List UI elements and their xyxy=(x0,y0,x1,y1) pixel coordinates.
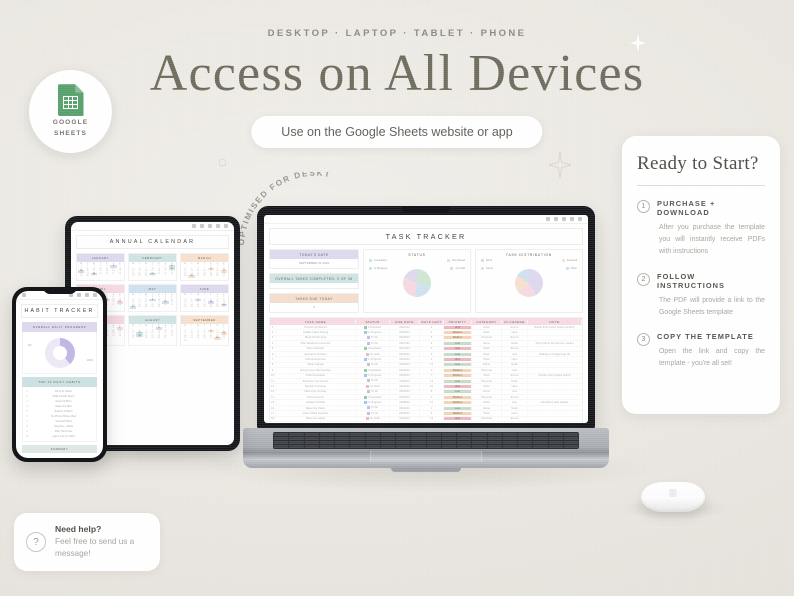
status-chip xyxy=(367,342,370,345)
legend-swatch xyxy=(369,259,372,262)
tablet-toolbar[interactable] xyxy=(71,222,234,231)
keyboard-key[interactable] xyxy=(564,441,578,444)
cell-status: To Do xyxy=(356,390,390,393)
keyboard-key[interactable] xyxy=(442,437,456,440)
cell-due-date: 10/02/24 xyxy=(390,363,420,366)
habit-name: Journal 5 Mins xyxy=(31,420,96,423)
keyboard-key[interactable] xyxy=(366,433,380,436)
keyboard-key[interactable] xyxy=(335,433,349,436)
cell-days-left: 8 xyxy=(420,390,444,393)
habit-number: 8 xyxy=(23,425,31,428)
cell-due-date: 09/30/24 xyxy=(390,353,420,356)
keyboard-key[interactable] xyxy=(503,445,517,448)
keyboard-key[interactable] xyxy=(366,437,380,440)
keyboard-key[interactable] xyxy=(350,441,364,444)
laptop-device: TASK TRACKER TODAY'S DATE SEPTEMBER 21 2… xyxy=(243,206,609,468)
month-name: MAY xyxy=(129,285,176,293)
cell-in-charge: Emma xyxy=(502,326,528,329)
ready-to-start-card: Ready to Start? 1PURCHASE + DOWNLOADAfte… xyxy=(622,136,780,414)
habit-number: 4 xyxy=(23,405,31,408)
keyboard-key[interactable] xyxy=(350,433,364,436)
keyboard-key[interactable] xyxy=(411,445,425,448)
task-table[interactable]: TASK NAME STATUS DUE DATE DAYS LEFT PRIO… xyxy=(269,317,583,423)
keyboard-row xyxy=(274,433,578,436)
cell-days-left: 5 xyxy=(420,336,444,339)
cell-days-left: 14 xyxy=(420,380,444,383)
keyboard-key[interactable] xyxy=(533,433,547,436)
keyboard-key[interactable] xyxy=(564,437,578,440)
habit-number: 10 xyxy=(23,435,31,438)
laptop-screen[interactable]: TASK TRACKER TODAY'S DATE SEPTEMBER 21 2… xyxy=(264,215,588,423)
step-title: PURCHASE + DOWNLOAD xyxy=(657,199,765,217)
cell-task-name: Schedule Car Service xyxy=(276,380,356,383)
calendar-day[interactable]: 30 xyxy=(221,306,227,309)
print-icon[interactable] xyxy=(570,217,574,221)
cell-due-date: 10/01/24 xyxy=(390,385,420,388)
more-icon[interactable] xyxy=(93,293,97,297)
badge-line-2: SHEETS xyxy=(53,129,89,139)
google-sheets-icon xyxy=(58,84,84,116)
cell-due-date: 09/26/24 xyxy=(390,336,420,339)
cell-priority: High xyxy=(444,417,472,420)
calendar-day[interactable]: 31 xyxy=(221,275,227,278)
keyboard-key[interactable] xyxy=(518,433,532,436)
zoom-icon[interactable] xyxy=(578,217,582,221)
cell-due-date: 09/23/24 xyxy=(390,358,420,361)
month-days: 1234567891011121314151617181920212223242… xyxy=(181,327,228,345)
keyboard-key[interactable] xyxy=(564,445,578,448)
legend-item: In Progress xyxy=(369,267,387,270)
cell-note: Shop before the farmers market xyxy=(528,342,582,345)
cell-in-charge: Noah xyxy=(502,363,528,366)
cell-category: Work xyxy=(472,412,502,415)
keyboard-key[interactable] xyxy=(549,441,563,444)
keyboard-key[interactable] xyxy=(442,441,456,444)
cell-in-charge: Ava xyxy=(502,369,528,372)
legend-swatch xyxy=(562,259,565,262)
cell-days-left: 6 xyxy=(420,342,444,345)
habit-number: 7 xyxy=(23,420,31,423)
keyboard-key[interactable] xyxy=(472,433,486,436)
kpi-card: TODAY'S DATE SEPTEMBER 21 2024 xyxy=(269,249,359,269)
cell-days-left: 2 xyxy=(420,358,444,361)
cell-due-date: 09/21/24 xyxy=(390,347,420,350)
calendar-day[interactable]: 31 xyxy=(91,275,97,278)
keyboard-key[interactable] xyxy=(549,445,563,448)
keyboard-key[interactable] xyxy=(320,437,334,440)
cell-task-name: Review Contracts xyxy=(276,385,356,388)
cell-in-charge: Noah xyxy=(502,342,528,345)
keyboard-key[interactable] xyxy=(289,433,303,436)
cell-task-name: Back Up Laptop xyxy=(276,417,356,420)
calendar-day[interactable]: 25 xyxy=(169,273,175,276)
google-sheets-pill: Use on the Google Sheets website or app xyxy=(251,116,542,148)
calendar-day[interactable]: 30 xyxy=(182,340,188,343)
legend-label: Completed xyxy=(374,259,387,262)
keyboard-key[interactable] xyxy=(503,437,517,440)
cell-status: Completed xyxy=(356,396,390,399)
status-chip xyxy=(366,353,369,356)
cell-task-name: Call Insurance xyxy=(276,396,356,399)
redo-icon[interactable] xyxy=(554,217,558,221)
calendar-day[interactable]: 25 xyxy=(169,335,175,338)
keyboard-key[interactable] xyxy=(305,441,319,444)
legend-swatch xyxy=(369,267,372,270)
cell-in-charge: Ava xyxy=(502,353,528,356)
step-body: COPY THE TEMPLATEOpen the link and copy … xyxy=(657,332,765,370)
undo-icon[interactable] xyxy=(192,224,196,228)
calendar-day[interactable]: 28 xyxy=(117,335,123,338)
cell-priority: Medium xyxy=(444,412,472,415)
cell-days-left: 5 xyxy=(420,412,444,415)
keyboard-key[interactable] xyxy=(549,433,563,436)
cell-days-left: 1 xyxy=(420,407,444,410)
habit-row[interactable]: 10Lights Out by 11PM xyxy=(23,434,96,439)
cell-status: In Progress xyxy=(356,401,390,404)
distribution-pie-chart xyxy=(515,269,543,297)
habit-number: 6 xyxy=(23,415,31,418)
cell-due-date: 10/05/24 xyxy=(390,380,420,383)
computer-mouse[interactable] xyxy=(641,482,705,512)
month-days: 1234567891011121314151617181920212223242… xyxy=(77,265,124,280)
keyboard-key[interactable] xyxy=(320,445,334,448)
keyboard-key[interactable] xyxy=(427,441,441,444)
keyboard-key[interactable] xyxy=(533,441,547,444)
habit-name: Drink 2L Water xyxy=(31,390,96,393)
paint-format-icon[interactable] xyxy=(562,217,566,221)
cell-days-left: 10 xyxy=(420,385,444,388)
keyboard-key[interactable] xyxy=(518,445,532,448)
keyboard-key[interactable] xyxy=(381,445,395,448)
keyboard-key[interactable] xyxy=(350,445,364,448)
ready-step: 3COPY THE TEMPLATEOpen the link and copy… xyxy=(637,332,765,370)
cell-due-date: 09/22/24 xyxy=(390,407,420,410)
keyboard-key[interactable] xyxy=(274,445,288,448)
cell-priority: Low xyxy=(444,390,472,393)
month-days: 1234567891011121314151617181920212223242… xyxy=(181,265,228,280)
status-chip xyxy=(364,401,367,404)
keyboard-key[interactable] xyxy=(488,441,502,444)
cell-status: To Do xyxy=(356,363,390,366)
keyboard-key[interactable] xyxy=(350,437,364,440)
legend-swatch xyxy=(481,267,484,270)
col-header[interactable]: NOTE xyxy=(528,320,582,324)
sparkle-icon xyxy=(218,158,227,167)
status-chip xyxy=(364,331,367,334)
cell-due-date: 09/29/24 xyxy=(390,390,420,393)
cell-due-date: 09/25/24 xyxy=(390,331,420,334)
cell-task-name: Book Dentist Appt xyxy=(276,336,356,339)
calendar-day[interactable]: 29 xyxy=(149,275,155,278)
cell-category: Work xyxy=(472,401,502,404)
col-header[interactable]: DAYS LEFT xyxy=(420,320,444,324)
keyboard-key[interactable] xyxy=(427,445,441,448)
keyboard-key[interactable] xyxy=(320,433,334,436)
redo-icon[interactable] xyxy=(77,293,81,297)
month-days: 1234567891011121314151617181920212223242… xyxy=(129,296,176,311)
step-description: After you purchase the template you will… xyxy=(657,222,765,258)
kpi-card: TASKS DUE TODAY 3 xyxy=(269,293,359,313)
keyboard-key[interactable] xyxy=(381,433,395,436)
keyboard-key[interactable] xyxy=(411,433,425,436)
keyboard-key[interactable] xyxy=(472,441,486,444)
calendar-month: AUGUSTMTWTFSS123456789101112131415161718… xyxy=(128,315,177,346)
keyboard-key[interactable] xyxy=(457,445,471,448)
cell-priority: Medium xyxy=(444,369,472,372)
phone-device: HABIT TRACKER OVERALL DAILY PROGRESS 0% … xyxy=(12,287,107,462)
keyboard-key[interactable] xyxy=(457,433,471,436)
paint-format-icon[interactable] xyxy=(85,293,89,297)
keyboard-key[interactable] xyxy=(289,437,303,440)
keyboard-key[interactable] xyxy=(518,437,532,440)
keyboard-key[interactable] xyxy=(335,445,349,448)
legend-label: Not Started xyxy=(452,259,465,262)
month-name: AUGUST xyxy=(129,316,176,324)
calendar-day[interactable]: 26 xyxy=(169,304,175,307)
cell-task-name: Team Standup xyxy=(276,347,356,350)
redo-icon[interactable] xyxy=(200,224,204,228)
keyboard-key[interactable] xyxy=(289,445,303,448)
keyboard-key[interactable] xyxy=(427,433,441,436)
help-subtitle: Feel free to send us a message! xyxy=(55,536,148,560)
legend-label: Work xyxy=(486,259,492,262)
habit-name: Lights Out by 11PM xyxy=(31,435,96,438)
step-title: FOLLOW INSTRUCTIONS xyxy=(657,272,765,290)
cell-in-charge: Emma xyxy=(502,336,528,339)
keyboard-key[interactable] xyxy=(335,441,349,444)
legend-label: Personal xyxy=(567,259,577,262)
keyboard-key[interactable] xyxy=(442,445,456,448)
card-title: Ready to Start? xyxy=(637,153,765,175)
cell-in-charge: Emma xyxy=(502,374,528,377)
keyboard-key[interactable] xyxy=(305,437,319,440)
keyboard-key[interactable] xyxy=(533,445,547,448)
keyboard-key[interactable] xyxy=(289,441,303,444)
cell-task-name: Draft Newsletter xyxy=(276,374,356,377)
status-chip xyxy=(364,358,367,361)
col-header[interactable]: DUE DATE xyxy=(390,320,420,324)
legend-item: On Hold xyxy=(450,267,465,270)
habits-section-header: TOP 10 DAILY HABITS xyxy=(22,377,97,387)
keyboard-key[interactable] xyxy=(396,445,410,448)
phone-body: HABIT TRACKER OVERALL DAILY PROGRESS 0% … xyxy=(12,287,107,462)
cell-days-left: 4 xyxy=(420,331,444,334)
cell-days-left: 3 xyxy=(420,326,444,329)
keyboard-key[interactable] xyxy=(274,441,288,444)
legend-item: Completed xyxy=(369,259,387,262)
cell-in-charge: Ava xyxy=(502,401,528,404)
keyboard-key[interactable] xyxy=(472,437,486,440)
laptop-keyboard[interactable] xyxy=(273,432,579,449)
cell-due-date: 09/19/24 xyxy=(390,396,420,399)
chart-legend-left: CompletedIn Progress xyxy=(369,259,387,270)
habit-name: Stretch 10 Mins xyxy=(31,410,96,413)
print-icon[interactable] xyxy=(216,224,220,228)
cell-category: Home xyxy=(472,342,502,345)
keyboard-key[interactable] xyxy=(457,437,471,440)
month-name: JUNE xyxy=(181,285,228,293)
kpi-value: 3 xyxy=(270,303,358,312)
kpi-panel: TODAY'S DATE SEPTEMBER 21 2024 OVERALL T… xyxy=(269,249,359,313)
laptop-lid: TASK TRACKER TODAY'S DATE SEPTEMBER 21 2… xyxy=(257,206,595,430)
calendar-month: SEPTEMBERMTWTFSS123456789101112131415161… xyxy=(180,315,229,346)
more-icon[interactable] xyxy=(224,224,228,228)
cell-category: Work xyxy=(472,385,502,388)
calendar-month: JUNEMTWTFSS12345678910111213141516171819… xyxy=(180,284,229,312)
cell-status: To Do xyxy=(356,336,390,339)
kpi-value: SEPTEMBER 21 2024 xyxy=(270,259,358,268)
cell-status: In Progress xyxy=(356,374,390,377)
step-title: COPY THE TEMPLATE xyxy=(657,332,765,341)
tablet-sheet-title: ANNUAL CALENDAR xyxy=(76,235,229,249)
keyboard-key[interactable] xyxy=(503,433,517,436)
chart-legend-left: WorkHome xyxy=(481,259,493,270)
cell-category: Home xyxy=(472,363,502,366)
table-row[interactable]: 19Plan Birthday DinnerTo Do10/12/2421Med… xyxy=(270,422,582,423)
cell-category: Work xyxy=(472,358,502,361)
keyboard-key[interactable] xyxy=(533,437,547,440)
cell-status: Completed xyxy=(356,326,390,329)
keyboard-key[interactable] xyxy=(457,441,471,444)
cell-priority: Medium xyxy=(444,396,472,399)
habit-name: Walk 10,000 Steps xyxy=(31,395,96,398)
cell-category: Home xyxy=(472,390,502,393)
keyboard-key[interactable] xyxy=(518,441,532,444)
cell-status: In Progress xyxy=(356,358,390,361)
keyboard-key[interactable] xyxy=(396,433,410,436)
eyebrow-text: DESKTOP · LAPTOP · TABLET · PHONE xyxy=(0,28,794,39)
help-title: Need help? xyxy=(55,524,148,534)
legend-swatch xyxy=(566,267,569,270)
cell-days-left: 9 xyxy=(420,353,444,356)
back-icon[interactable] xyxy=(22,293,26,297)
poster-canvas: DESKTOP · LAPTOP · TABLET · PHONE Access… xyxy=(0,0,794,596)
progress-donut-area: 0% 100% xyxy=(22,332,97,374)
keyboard-key[interactable] xyxy=(381,441,395,444)
keyboard-key[interactable] xyxy=(305,433,319,436)
cell-task-name: Submit Expenses xyxy=(276,358,356,361)
cell-category: Work xyxy=(472,347,502,350)
laptop-toolbar[interactable] xyxy=(264,215,588,224)
month-days: 1234567891011121314151617181920212223242… xyxy=(129,265,176,280)
legend-label: On Hold xyxy=(455,267,465,270)
keyboard-key[interactable] xyxy=(503,441,517,444)
keyboard-key[interactable] xyxy=(335,437,349,440)
keyboard-key[interactable] xyxy=(396,437,410,440)
habit-name: Vitamins + Meds xyxy=(31,425,96,428)
habits-list: 1Drink 2L Water2Walk 10,000 Steps3Read 2… xyxy=(22,387,97,442)
keyboard-row xyxy=(274,437,578,440)
keyboard-key[interactable] xyxy=(366,445,380,448)
calendar-day[interactable]: 28 xyxy=(117,273,123,276)
cell-task-name: Update Client Pricing xyxy=(276,331,356,334)
keyboard-key[interactable] xyxy=(274,437,288,440)
cell-category: Work xyxy=(472,326,502,329)
keyboard-row xyxy=(274,445,578,448)
kpi-label: OVERALL TASKS COMPLETED: 0 OF 38 xyxy=(270,274,358,283)
col-header[interactable]: STATUS xyxy=(356,320,390,324)
need-help-bubble[interactable]: ? Need help? Feel free to send us a mess… xyxy=(14,513,160,571)
laptop-trackpad[interactable] xyxy=(370,451,482,462)
phone-sheet-title: HABIT TRACKER xyxy=(21,304,98,318)
step-description: Open the link and copy the template - yo… xyxy=(657,346,765,370)
col-header[interactable]: TASK NAME xyxy=(276,320,356,324)
calendar-day[interactable]: 31 xyxy=(156,306,162,309)
keyboard-key[interactable] xyxy=(442,433,456,436)
keyboard-key[interactable] xyxy=(488,433,502,436)
undo-icon[interactable] xyxy=(546,217,550,221)
keyboard-key[interactable] xyxy=(411,441,425,444)
keyboard-key[interactable] xyxy=(396,441,410,444)
habit-number: 9 xyxy=(23,430,31,433)
col-header[interactable]: PRIORITY xyxy=(444,320,472,324)
cell-category: Work xyxy=(472,374,502,377)
keyboard-key[interactable] xyxy=(564,433,578,436)
cell-task-name: Order Office Supplies xyxy=(276,412,356,415)
paint-format-icon[interactable] xyxy=(208,224,212,228)
keyboard-key[interactable] xyxy=(274,433,288,436)
kpi-label: TASKS DUE TODAY xyxy=(270,294,358,303)
keyboard-key[interactable] xyxy=(320,441,334,444)
keyboard-key[interactable] xyxy=(472,445,486,448)
cell-category: Personal xyxy=(472,336,502,339)
status-chip xyxy=(366,385,369,388)
cell-status: To Do xyxy=(356,342,390,345)
month-name: FEBRUARY xyxy=(129,254,176,262)
cell-in-charge: Noah xyxy=(502,407,528,410)
cell-days-left: 0 xyxy=(420,369,444,372)
calendar-month: MAYMTWTFSS123456789101112131415161718192… xyxy=(128,284,177,312)
legend-item: Not Started xyxy=(447,259,465,262)
cell-status: To Do xyxy=(356,406,390,409)
status-chip xyxy=(364,369,367,372)
keyboard-key[interactable] xyxy=(549,437,563,440)
phone-screen[interactable]: HABIT TRACKER OVERALL DAILY PROGRESS 0% … xyxy=(16,291,103,458)
status-chart-card: STATUS CompletedIn Progress Not StartedO… xyxy=(363,249,471,313)
kpi-value xyxy=(270,283,358,288)
cell-days-left: 17 xyxy=(420,401,444,404)
legend-label: Home xyxy=(486,267,493,270)
keyboard-key[interactable] xyxy=(488,445,502,448)
habit-number: 2 xyxy=(23,395,31,398)
cell-category: Work xyxy=(472,331,502,334)
keyboard-key[interactable] xyxy=(381,437,395,440)
calendar-day[interactable]: 28 xyxy=(117,304,123,307)
keyboard-key[interactable] xyxy=(488,437,502,440)
cell-due-date: 10/08/24 xyxy=(390,401,420,404)
calendar-day[interactable]: 29 xyxy=(221,337,227,340)
calendar-month: JANUARYMTWTFSS12345678910111213141516171… xyxy=(76,253,125,281)
cell-status: To Do xyxy=(356,379,390,382)
keyboard-key[interactable] xyxy=(411,437,425,440)
summary-footer: SUMMARY xyxy=(22,445,97,453)
chart-legend-right: PersonalOther xyxy=(562,259,577,270)
cell-priority: High xyxy=(444,358,472,361)
keyboard-key[interactable] xyxy=(427,437,441,440)
calendar-day[interactable]: 31 xyxy=(162,337,168,340)
cell-in-charge: Noah xyxy=(502,380,528,383)
col-header[interactable]: CATEGORY xyxy=(472,320,502,324)
habit-name: No Phone Before Bed xyxy=(31,415,96,418)
keyboard-key[interactable] xyxy=(305,445,319,448)
keyboard-key[interactable] xyxy=(366,441,380,444)
cell-due-date: 09/28/24 xyxy=(390,374,420,377)
cell-category: Personal xyxy=(472,369,502,372)
col-header[interactable]: IN CHARGE xyxy=(502,320,528,324)
cell-due-date: 09/24/24 xyxy=(390,326,420,329)
status-chip xyxy=(366,417,369,420)
cell-task-name: Water the Plants xyxy=(276,407,356,410)
